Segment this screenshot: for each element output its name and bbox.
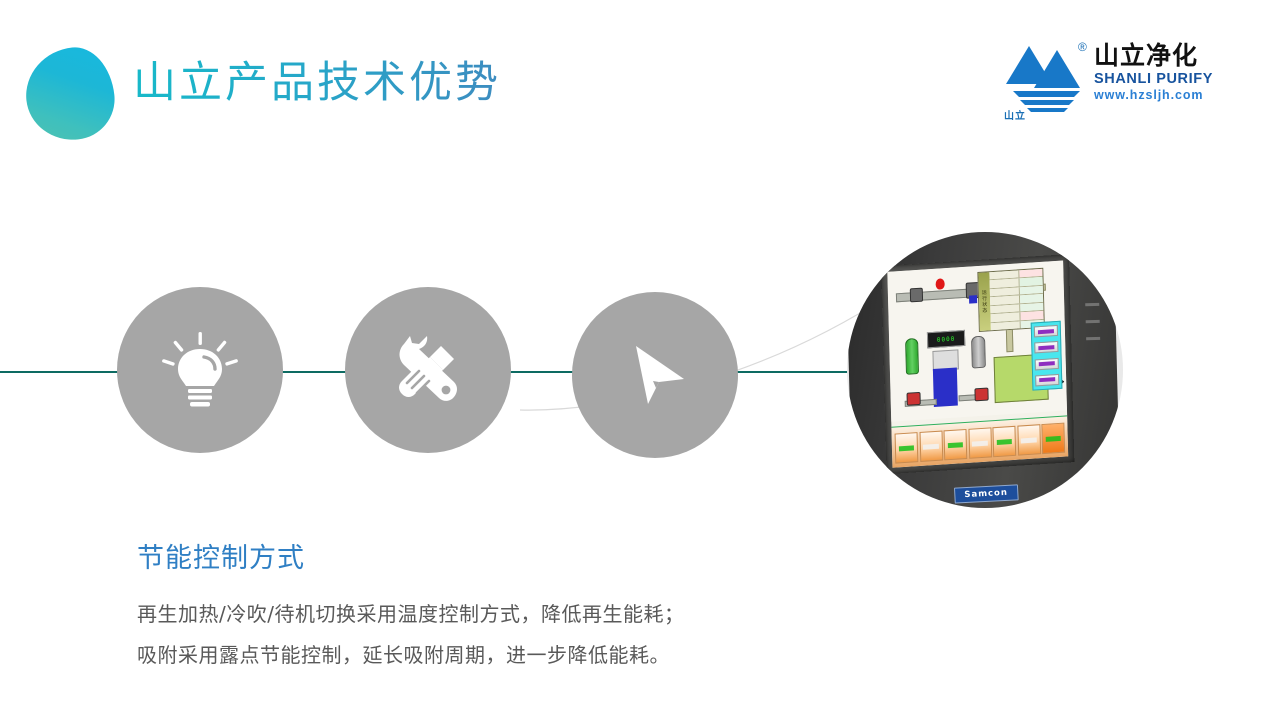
screen-tab[interactable] — [1041, 423, 1065, 454]
valve-left — [906, 392, 920, 406]
page-title: 山立产品技术优势 — [133, 60, 501, 107]
step-circle-cursor[interactable] — [572, 292, 738, 458]
hmi-screen[interactable]: 运行状态 — [887, 260, 1068, 467]
blob-shape — [21, 44, 118, 145]
side-button[interactable] — [1034, 325, 1058, 338]
side-button[interactable] — [1035, 358, 1059, 371]
side-button[interactable] — [1035, 374, 1059, 387]
digital-readout: 0000 — [927, 330, 965, 348]
caption-line-2: 吸附采用露点节能控制，延长吸附周期，进一步降低能耗。 — [137, 640, 837, 671]
logo-wordmark: 山立净化 SHANLI PURIFY www.hzsljh.com — [1094, 42, 1222, 103]
caption-block: 节能控制方式 再生加热/冷吹/待机切换采用温度控制方式，降低再生能耗； 吸附采用… — [137, 536, 837, 681]
screen-tab[interactable] — [895, 432, 919, 463]
mountain-logo-icon — [1000, 40, 1086, 114]
logo-website: www.hzsljh.com — [1094, 88, 1222, 104]
logo-name-cn: 山立净化 — [1094, 42, 1222, 70]
panel-enclosure: 运行状态 — [847, 232, 1121, 508]
panel-brand-badge: Samcon — [954, 484, 1018, 503]
gas-cylinder — [905, 338, 919, 375]
caption-line-1: 再生加热/冷吹/待机切换采用温度控制方式，降低再生能耗； — [137, 599, 837, 630]
screen-tab[interactable] — [968, 427, 992, 458]
bottom-tab-strip — [891, 415, 1068, 467]
tools-icon — [384, 326, 472, 414]
slide-root: 山立产品技术优势 ® 山立 山立净化 SHANLI PURIFY www.hzs… — [0, 0, 1280, 720]
status-table-rows — [989, 269, 1043, 330]
valve-right — [974, 387, 988, 401]
valve-inlet — [910, 288, 923, 303]
cursor-arrow-icon — [612, 332, 698, 418]
filter-vessel — [971, 336, 986, 369]
hmi-panel-photo: 运行状态 — [847, 232, 1123, 508]
step-circle-tools[interactable] — [345, 287, 511, 453]
caption-heading: 节能控制方式 — [137, 536, 837, 575]
indicator-led-group — [1083, 303, 1102, 354]
valve-actuator — [969, 295, 977, 304]
screen-tab[interactable] — [992, 426, 1016, 457]
panel-bezel: 运行状态 — [881, 254, 1074, 474]
screen-tab[interactable] — [1017, 424, 1041, 455]
alarm-indicator-icon — [936, 278, 945, 290]
company-logo: ® 山立 山立净化 SHANLI PURIFY www.hzsljh.com — [1000, 36, 1218, 120]
process-mimic-diagram: 运行状态 — [887, 260, 1067, 421]
lightbulb-icon — [157, 327, 243, 413]
logo-mark-label: 山立 — [1004, 107, 1026, 122]
screen-tab[interactable] — [943, 429, 967, 460]
screen-tab[interactable] — [919, 431, 943, 462]
side-button-panel[interactable] — [1031, 321, 1063, 391]
side-button[interactable] — [1034, 341, 1058, 354]
step-circle-idea[interactable] — [117, 287, 283, 453]
logo-name-en: SHANLI PURIFY — [1094, 70, 1222, 88]
registered-trademark-icon: ® — [1078, 40, 1087, 54]
